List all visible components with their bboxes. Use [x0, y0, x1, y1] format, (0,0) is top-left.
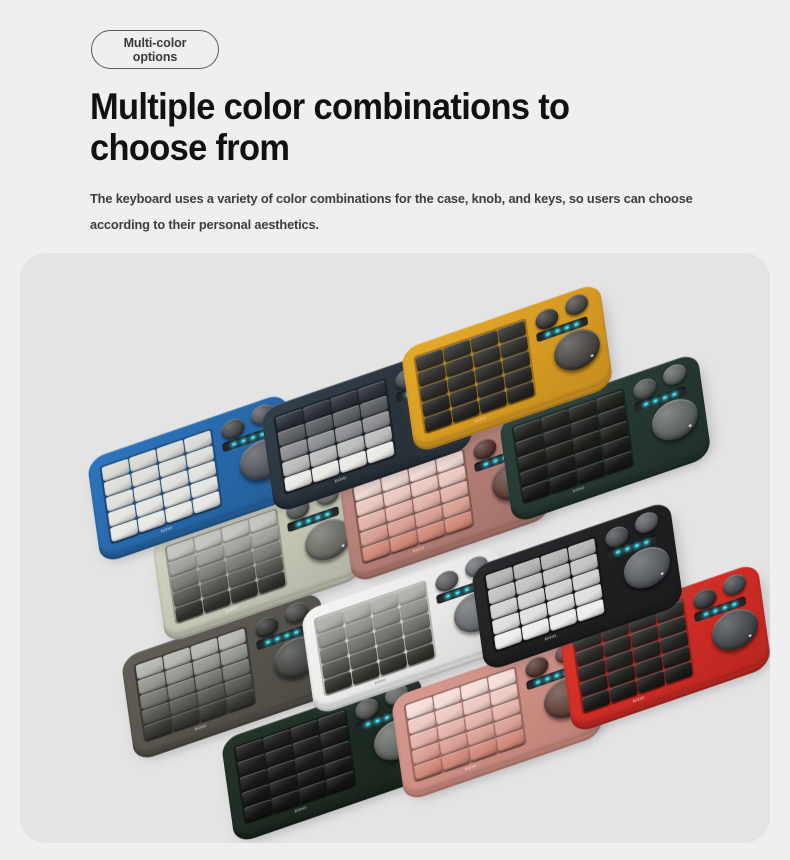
led-indicator: [565, 326, 569, 330]
led-indicator: [242, 439, 246, 443]
led-indicator: [635, 544, 639, 548]
led-indicator: [366, 722, 370, 726]
keyboard-mustard-yellow[interactable]: DOIO: [402, 303, 612, 431]
led-indicator: [484, 462, 488, 466]
led-indicator: [294, 630, 298, 634]
led-indicator: [385, 716, 389, 720]
led-indicator: [325, 512, 329, 516]
led-indicator: [672, 392, 676, 396]
led-indicator: [285, 634, 289, 638]
led-indicator: [546, 677, 550, 681]
led-indicator: [276, 637, 280, 641]
led-indicator: [266, 640, 270, 644]
badge-line-1: Multi-color: [124, 36, 187, 50]
led-indicator: [714, 609, 718, 613]
led-indicator: [616, 550, 620, 554]
knob-small-right[interactable]: [722, 571, 747, 598]
product-feature-page: Multi-color options Multiple color combi…: [0, 0, 790, 860]
led-indicator: [536, 680, 540, 684]
product-gallery-panel: DOIODOIODOIODOIODOIODOIODOIODOIODOIODOIO…: [20, 253, 770, 843]
led-indicator: [723, 606, 727, 610]
led-indicator: [494, 459, 498, 463]
section-badge: Multi-color options: [91, 30, 219, 69]
led-indicator: [704, 612, 708, 616]
led-indicator: [556, 329, 560, 333]
keyboard-taupe-grey[interactable]: DOIO: [122, 611, 332, 739]
led-indicator: [465, 588, 469, 592]
knob-small-right[interactable]: [634, 509, 659, 536]
knob-small-right[interactable]: [564, 291, 589, 318]
led-indicator: [456, 591, 460, 595]
led-indicator: [546, 332, 550, 336]
led-indicator: [626, 547, 630, 551]
keyboard-collection: DOIODOIODOIODOIODOIODOIODOIODOIODOIODOIO…: [20, 253, 770, 843]
led-indicator: [316, 516, 320, 520]
knob-small-right[interactable]: [662, 361, 687, 388]
led-indicator: [251, 436, 255, 440]
led-indicator: [732, 602, 736, 606]
led-indicator: [376, 719, 380, 723]
led-indicator: [307, 519, 311, 523]
led-indicator: [446, 594, 450, 598]
led-indicator: [574, 322, 578, 326]
badge-line-2: options: [133, 50, 177, 64]
led-indicator: [555, 674, 559, 678]
led-indicator: [663, 396, 667, 400]
led-indicator: [654, 399, 658, 403]
led-indicator: [232, 442, 236, 446]
led-indicator: [644, 402, 648, 406]
page-description: The keyboard uses a variety of color com…: [90, 186, 721, 237]
led-indicator: [644, 540, 648, 544]
page-title: Multiple color combinations to choose fr…: [90, 86, 648, 169]
